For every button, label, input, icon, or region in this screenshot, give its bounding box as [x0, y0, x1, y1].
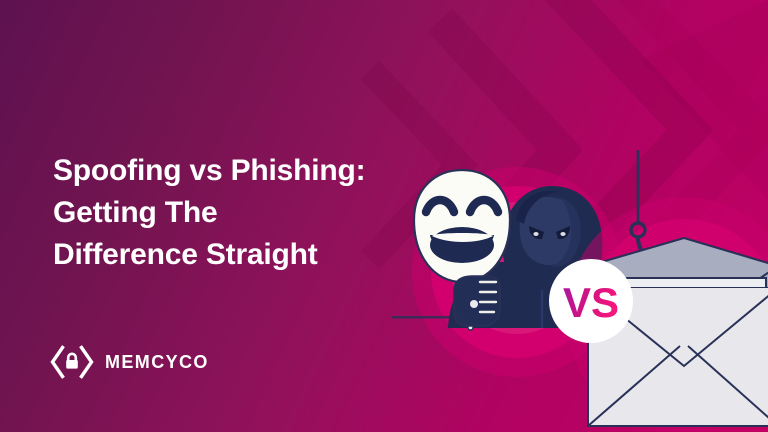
hero-banner: Spoofing vs Phishing: Getting The Differ… — [0, 0, 768, 432]
hero-illustration: VS — [392, 150, 768, 432]
illustration-svg: VS — [392, 150, 768, 432]
chevron-lock-logo-icon — [50, 345, 94, 379]
brand-logo[interactable]: MEMCYCO — [50, 345, 209, 379]
logo-wordmark: MEMCYCO — [105, 353, 209, 371]
gloved-hand — [454, 276, 500, 326]
vs-badge: VS — [549, 259, 633, 343]
vs-badge-label: VS — [563, 279, 619, 326]
